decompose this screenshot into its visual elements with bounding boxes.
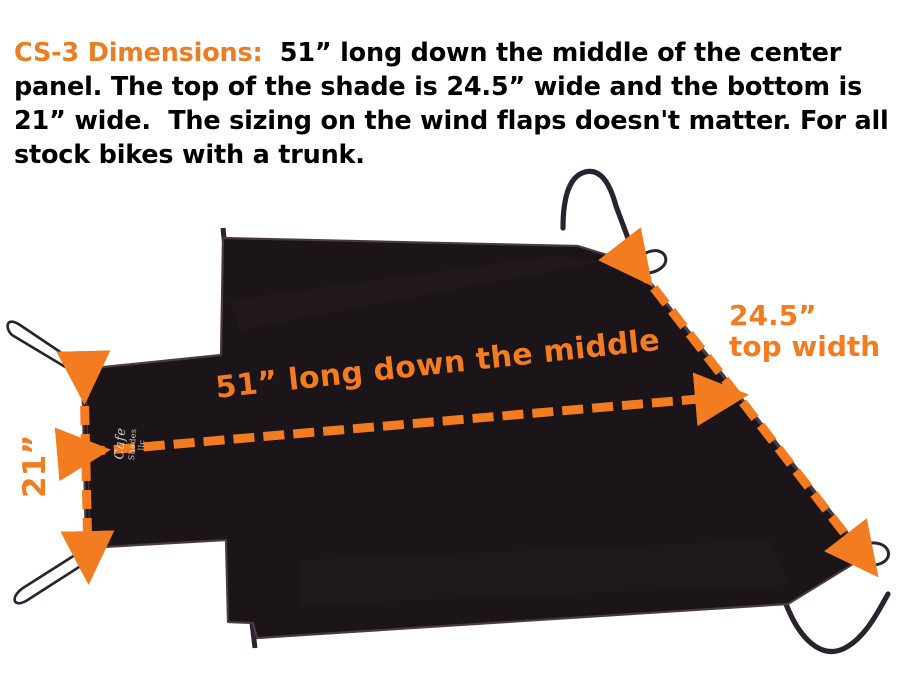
top-width-caption: top width <box>729 331 880 362</box>
top-left-elastic-loop-icon <box>8 322 84 377</box>
top-width-dimension-label: 24.5” top width <box>729 300 880 363</box>
shade-dimension-diagram: CS-3 Dimensions: 51” long down the middl… <box>0 0 900 692</box>
top-right-hanging-strap-icon <box>563 171 632 249</box>
bottom-width-dimension-label: 21” <box>18 434 53 498</box>
bottom-left-elastic-loop-icon <box>15 548 90 603</box>
top-width-value: 24.5” <box>729 299 817 332</box>
bottom-right-hanging-strap-icon <box>786 594 888 651</box>
